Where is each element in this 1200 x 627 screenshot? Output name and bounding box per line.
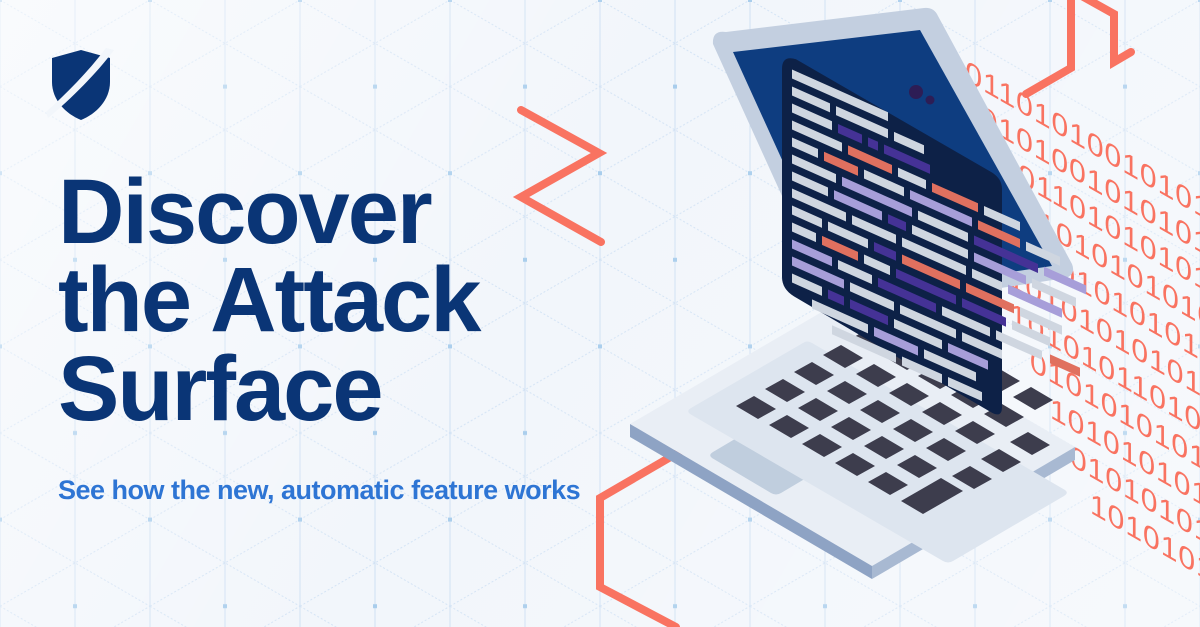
webcam-dot-icon bbox=[909, 85, 923, 99]
shield-logo-icon[interactable] bbox=[46, 48, 116, 122]
hero-copy: Discover the Attack Surface See how the … bbox=[58, 168, 678, 506]
laptop-icon bbox=[600, 0, 1200, 627]
hero-banner: 01011010100101010101011 0101010100101010… bbox=[0, 0, 1200, 627]
page-subtitle: See how the new, automatic feature works bbox=[58, 475, 678, 506]
webcam-led-icon bbox=[926, 96, 935, 105]
page-title: Discover the Attack Surface bbox=[58, 168, 678, 433]
